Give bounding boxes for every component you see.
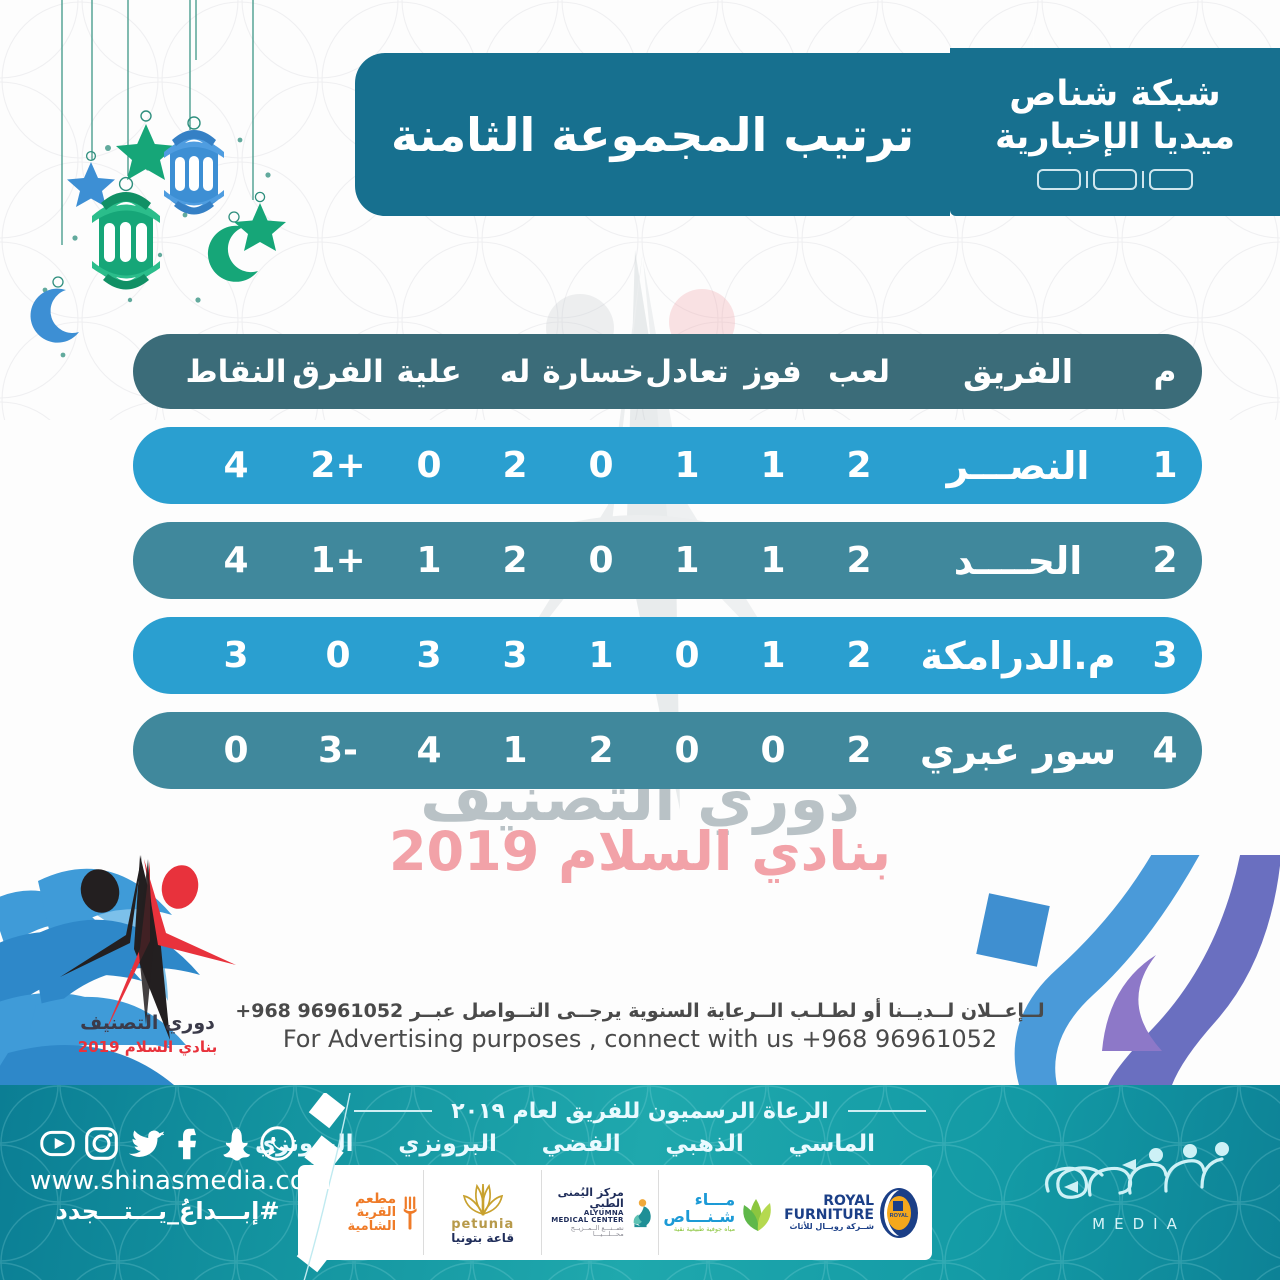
column-header-gd: الفرق	[290, 354, 386, 390]
table-row[interactable]: 3 م.الدرامكة 2 1 0 1 3 3 0 3	[133, 617, 1202, 694]
brand-header: شبكة شناص ميديا الإخبارية	[950, 48, 1280, 216]
cell-played: 2	[816, 730, 902, 771]
cell-loss: 0	[558, 445, 644, 486]
page-title-pill: ترتيب المجموعة الثامنة	[355, 53, 950, 216]
cell-against: 0	[386, 445, 472, 486]
cell-win: 1	[730, 540, 816, 581]
media-wordmark: MEDIA	[1034, 1215, 1244, 1233]
sponsor-maa-shinas[interactable]: مـــاء شـنـــاص مياه جوفية طبيعية نقية	[658, 1170, 780, 1255]
sponsor-royal-text: ROYAL FURNITURE شــركة رويــال للأثاث	[784, 1194, 874, 1232]
sponsor-petunia[interactable]: petunia قاعة بتونيا	[423, 1170, 540, 1255]
cell-win: 1	[730, 635, 816, 676]
cell-rank: 2	[1134, 540, 1196, 581]
cell-team: الحــــد	[902, 539, 1134, 583]
sponsor-maa-sub: مياه جوفية طبيعية نقية	[663, 1226, 735, 1233]
cell-draw: 0	[644, 730, 730, 771]
sponsor-alyumna-sub: نصــنـــع الــمــزيــج محـــلـــيـــا	[546, 1225, 624, 1239]
column-header-loss: خسارة	[558, 354, 644, 390]
sponsor-maa-text: مـــاء شـنـــاص مياه جوفية طبيعية نقية	[663, 1192, 735, 1232]
cell-rank: 3	[1134, 635, 1196, 676]
page-title: ترتيب المجموعة الثامنة	[391, 108, 914, 162]
cell-gd: -3	[290, 730, 386, 771]
column-header-against: علية	[386, 354, 472, 390]
star-green-2-icon	[234, 192, 286, 251]
cell-gd: +2	[290, 445, 386, 486]
leaf-water-icon	[740, 1191, 776, 1235]
cell-for: 3	[472, 635, 558, 676]
svg-text:ROYAL: ROYAL	[890, 1213, 909, 1219]
whatsapp-icon[interactable]	[259, 1125, 296, 1162]
table-header-row: م الفريق لعب فوز تعادل خسارة له علية الف…	[133, 334, 1202, 409]
brand-logo-mark-icon	[1037, 169, 1193, 190]
royal-furniture-logo-icon: ROYAL	[879, 1187, 919, 1239]
footer-bar: الرعاة الرسميون للفريق لعام ٢٠١٩ الماسي …	[0, 1085, 1280, 1280]
cell-loss: 2	[558, 730, 644, 771]
column-header-points: النقاط	[182, 354, 290, 390]
sponsor-alyumna-medical[interactable]: مركز اليُمنى الطبي ALYUMNA MEDICAL CENTE…	[541, 1170, 658, 1255]
cell-played: 2	[816, 540, 902, 581]
tier-label-silver: الفضي	[542, 1131, 621, 1157]
star-blue-icon	[67, 152, 115, 207]
website-url[interactable]: www.shinasmedia.com	[30, 1166, 305, 1196]
cell-for: 2	[472, 445, 558, 486]
social-icons-row	[30, 1125, 305, 1162]
sponsor-maa-main2: شـنـــاص	[663, 1209, 735, 1226]
medical-physio-icon	[629, 1191, 655, 1235]
cell-gd: +1	[290, 540, 386, 581]
cell-team: م.الدرامكة	[902, 634, 1134, 678]
poster-canvas: دوري التصنيف بنادي السلام 2019 شبكة شناص…	[0, 0, 1280, 1280]
cell-draw: 1	[644, 540, 730, 581]
column-header-team: الفريق	[902, 352, 1134, 391]
cell-against: 1	[386, 540, 472, 581]
crescent-blue-icon	[31, 277, 79, 343]
cell-win: 1	[730, 445, 816, 486]
petunia-flower-icon	[459, 1180, 507, 1218]
cell-against: 3	[386, 635, 472, 676]
advertising-block: لــإعــلان لــديــنا أو لطـلـب الــرعاية…	[0, 1000, 1280, 1053]
crescent-green-icon	[208, 212, 258, 282]
cell-points: 4	[182, 445, 290, 486]
column-header-played: لعب	[816, 354, 902, 390]
column-header-win: فوز	[730, 354, 816, 390]
table-row[interactable]: 1 النصـــر 2 1 1 0 2 0 +2 4	[133, 427, 1202, 504]
cell-gd: 0	[290, 635, 386, 676]
sponsor-alyumna-main2: ALYUMNA MEDICAL CENTER	[546, 1210, 624, 1225]
cell-loss: 1	[558, 635, 644, 676]
cell-team: النصـــر	[902, 444, 1134, 488]
hashtag-slogan: #إبـــداعُ_يـــتـــجدد	[30, 1197, 305, 1225]
lantern-green-icon	[92, 178, 160, 290]
tier-label-diamond: الماسي	[789, 1131, 875, 1157]
sponsor-royal-sub: شــركة رويــال للأثاث	[784, 1223, 874, 1231]
rule-right	[354, 1110, 432, 1112]
table-row[interactable]: 2 الحــــد 2 1 1 0 2 1 +1 4	[133, 522, 1202, 599]
cell-against: 4	[386, 730, 472, 771]
table-row[interactable]: 4 سور عبري 2 0 0 2 1 4 -3 0	[133, 712, 1202, 789]
cell-played: 2	[816, 445, 902, 486]
sponsor-royal-furniture[interactable]: ROYAL ROYAL FURNITURE شــركة رويــال للأ…	[780, 1170, 923, 1255]
fork-restaurant-icon	[401, 1191, 419, 1235]
cell-points: 4	[182, 540, 290, 581]
facebook-icon[interactable]	[171, 1125, 208, 1162]
sponsors-logo-strip: ROYAL ROYAL FURNITURE شــركة رويــال للأ…	[298, 1165, 932, 1260]
cell-rank: 1	[1134, 445, 1196, 486]
twitter-icon[interactable]	[127, 1125, 164, 1162]
brand-line2: ميديا الإخبارية	[995, 117, 1235, 158]
lantern-blue-icon	[164, 117, 224, 215]
column-header-rank: م	[1134, 354, 1196, 390]
snapchat-icon[interactable]	[215, 1125, 252, 1162]
cell-for: 1	[472, 730, 558, 771]
cell-loss: 0	[558, 540, 644, 581]
cell-points: 0	[182, 730, 290, 771]
youtube-icon[interactable]	[39, 1125, 76, 1162]
advertising-english: For Advertising purposes , connect with …	[0, 1025, 1280, 1053]
rule-left	[848, 1110, 926, 1112]
standings-table: م الفريق لعب فوز تعادل خسارة له علية الف…	[133, 334, 1202, 807]
cell-played: 2	[816, 635, 902, 676]
sponsor-royal-main2: FURNITURE	[784, 1208, 874, 1223]
cell-for: 2	[472, 540, 558, 581]
cell-draw: 1	[644, 445, 730, 486]
cell-points: 3	[182, 635, 290, 676]
social-block: www.shinasmedia.com #إبـــداعُ_يـــتـــج…	[30, 1125, 305, 1225]
cell-team: سور عبري	[902, 729, 1134, 773]
advertising-arabic: لــإعــلان لــديــنا أو لطـلـب الــرعاية…	[0, 1000, 1280, 1022]
column-header-for: له	[472, 354, 558, 390]
instagram-icon[interactable]	[83, 1125, 120, 1162]
sponsor-petunia-text: petunia قاعة بتونيا	[451, 1180, 514, 1244]
sponsor-alyumna-text: مركز اليُمنى الطبي ALYUMNA MEDICAL CENTE…	[546, 1187, 624, 1238]
sponsors-heading: الرعاة الرسميون للفريق لعام ٢٠١٩	[451, 1099, 828, 1124]
sponsor-petunia-main: petunia	[451, 1218, 514, 1232]
cell-draw: 0	[644, 635, 730, 676]
brand-line1: شبكة شناص	[1009, 74, 1220, 115]
cell-win: 0	[730, 730, 816, 771]
column-header-draw: تعادل	[644, 354, 730, 390]
shinas-media-logo: MEDIA	[1034, 1121, 1244, 1241]
sponsor-petunia-main2: قاعة بتونيا	[451, 1232, 514, 1245]
tier-label-gold: الذهبي	[665, 1131, 743, 1157]
tier-label-bronze1: البرونزي	[398, 1131, 497, 1157]
shinas-media-script-icon	[1034, 1121, 1244, 1221]
star-green-icon	[116, 111, 176, 180]
cell-rank: 4	[1134, 730, 1196, 771]
sponsor-alyumna-main: مركز اليُمنى الطبي	[546, 1187, 624, 1210]
sponsor-royal-main: ROYAL	[784, 1194, 874, 1209]
